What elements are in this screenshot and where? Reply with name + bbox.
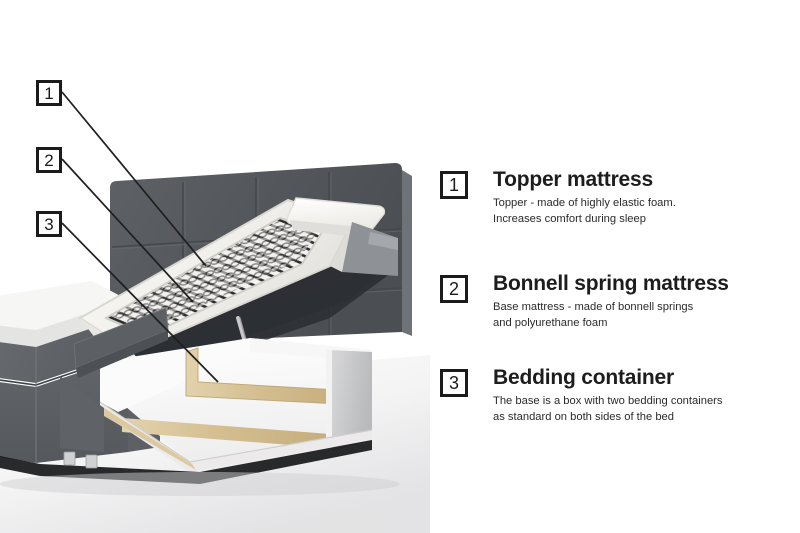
legend-title-3: Bedding container bbox=[493, 366, 722, 390]
legend-title-1: Topper mattress bbox=[493, 168, 676, 192]
legend-description-2-line2: and polyurethane foam bbox=[493, 317, 607, 329]
legend-item-3: 3 Bedding container The base is a box wi… bbox=[430, 366, 800, 426]
legend-text-2: Bonnell spring mattress Base mattress - … bbox=[493, 272, 729, 332]
legend-item-1: 1 Topper mattress Topper - made of highl… bbox=[430, 168, 800, 228]
infographic-canvas: 1 2 3 1 Topper mattress Topper - made of… bbox=[0, 0, 800, 533]
callout-box-1: 1 bbox=[36, 80, 62, 106]
legend-description-1: Topper - made of highly elastic foam. In… bbox=[493, 196, 676, 228]
bed-cutaway-illustration: 1 2 3 bbox=[0, 0, 430, 533]
legend-description-3-line2: as standard on both sides of the bed bbox=[493, 411, 674, 423]
legend-panel: 1 Topper mattress Topper - made of highl… bbox=[430, 0, 800, 533]
callout-box-2: 2 bbox=[36, 147, 62, 173]
legend-description-1-line1: Topper - made of highly elastic foam. bbox=[493, 197, 676, 209]
legend-item-2: 2 Bonnell spring mattress Base mattress … bbox=[430, 272, 800, 332]
legend-number-3: 3 bbox=[440, 369, 468, 397]
legend-description-2: Base mattress - made of bonnell springs … bbox=[493, 300, 729, 332]
legend-description-2-line1: Base mattress - made of bonnell springs bbox=[493, 301, 693, 313]
callout-box-3: 3 bbox=[36, 211, 62, 237]
legend-text-1: Topper mattress Topper - made of highly … bbox=[493, 168, 676, 228]
legend-description-1-line2: Increases comfort during sleep bbox=[493, 213, 646, 225]
legend-text-3: Bedding container The base is a box with… bbox=[493, 366, 722, 426]
legend-title-2: Bonnell spring mattress bbox=[493, 272, 729, 296]
legend-description-3-line1: The base is a box with two bedding conta… bbox=[493, 395, 722, 407]
legend-description-3: The base is a box with two bedding conta… bbox=[493, 394, 722, 426]
legend-number-1: 1 bbox=[440, 171, 468, 199]
legend-number-2: 2 bbox=[440, 275, 468, 303]
